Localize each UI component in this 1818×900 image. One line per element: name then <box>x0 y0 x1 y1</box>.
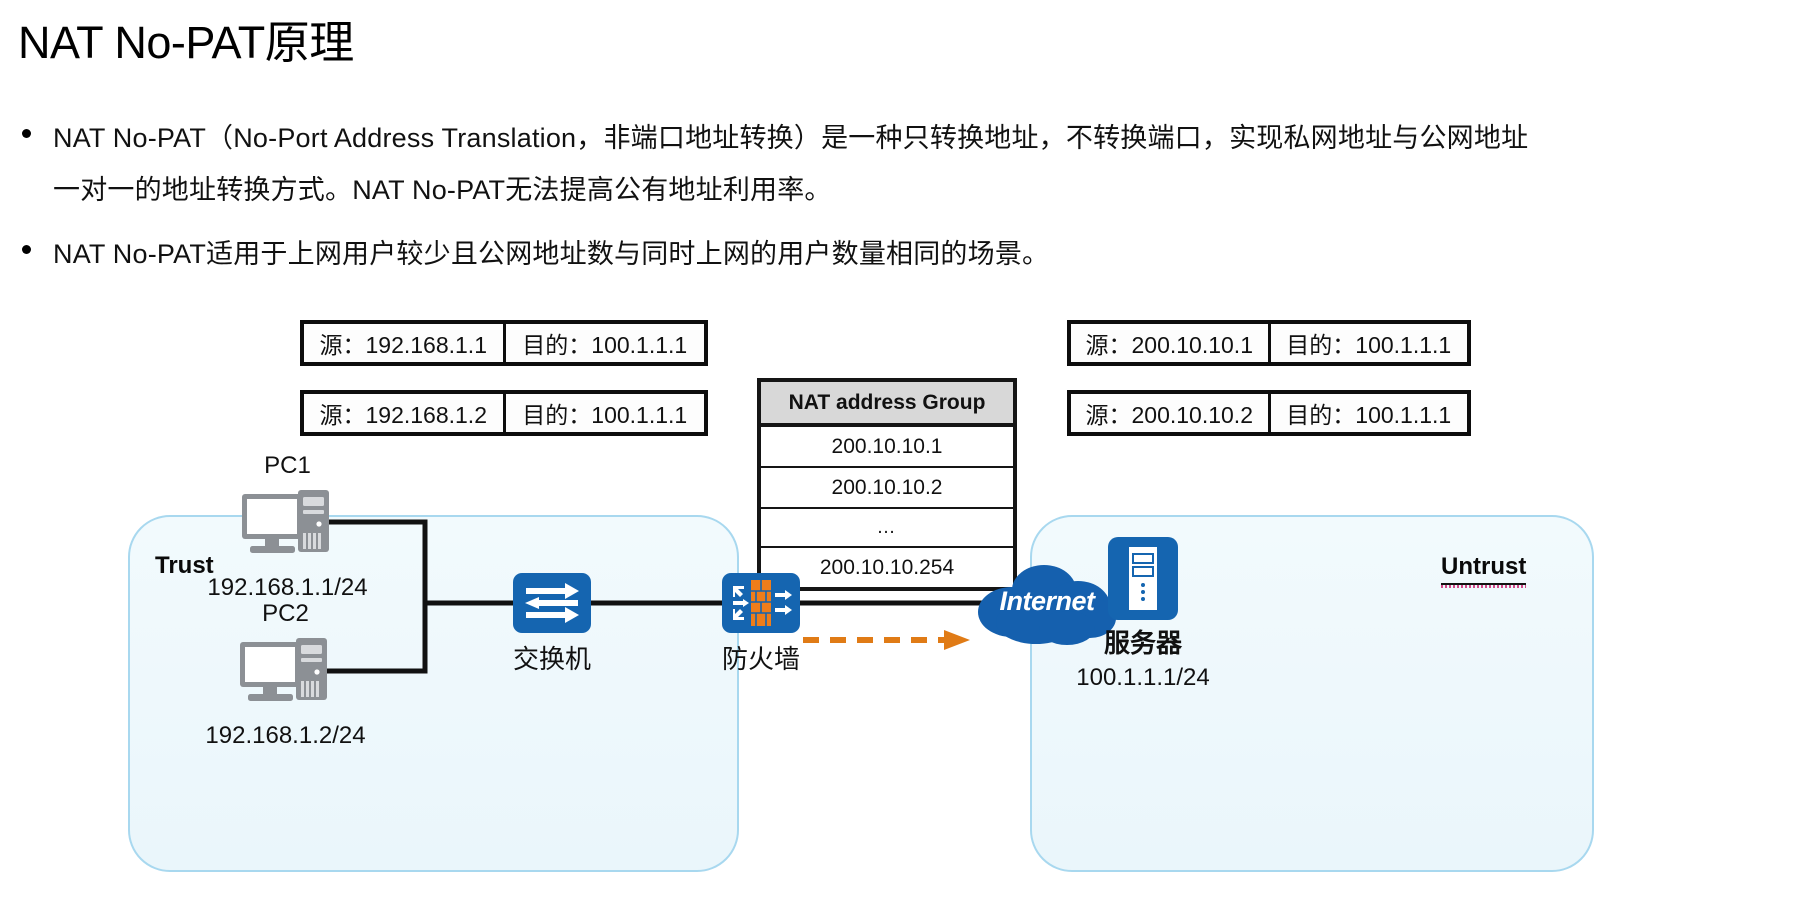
bullet-item-1: NAT No-PAT（No-Port Address Translation，非… <box>22 112 1553 216</box>
packet-box-public-1: 源：200.10.10.1 目的：100.1.1.1 <box>1067 320 1471 366</box>
bullet-dot-icon <box>22 245 31 254</box>
bullet-text-1: NAT No-PAT（No-Port Address Translation，非… <box>53 112 1553 216</box>
nat-table-row: 200.10.10.1 <box>761 427 1013 468</box>
desktop-computer-icon <box>240 488 335 560</box>
device-pc1[interactable]: PC1 192.168.1.1/24 <box>240 488 335 560</box>
pc2-label: PC2 <box>238 600 333 628</box>
pc2-ip-label: 192.168.1.2/24 <box>176 722 396 750</box>
pc1-label: PC1 <box>240 452 335 480</box>
packet-source: 源：192.168.1.1 <box>304 324 506 362</box>
nat-table-row: 200.10.10.2 <box>761 468 1013 509</box>
device-switch[interactable]: 交换机 <box>513 573 591 633</box>
server-caption: 服务器 <box>1083 623 1203 660</box>
nat-table-header: NAT address Group <box>761 382 1013 427</box>
server-ip-label: 100.1.1.1/24 <box>1053 664 1233 692</box>
bullet-text-2: NAT No-PAT适用于上网用户较少且公网地址数与同时上网的用户数量相同的场景… <box>53 228 1049 280</box>
packet-destination: 目的：100.1.1.1 <box>1271 394 1468 432</box>
firewall-icon <box>722 573 800 633</box>
packet-destination: 目的：100.1.1.1 <box>1271 324 1468 362</box>
firewall-caption: 防火墙 <box>722 639 800 676</box>
device-pc2[interactable]: PC2 192.168.1.2/24 <box>238 636 333 708</box>
translation-direction-arrow <box>803 630 970 650</box>
bullet-dot-icon <box>22 129 31 138</box>
packet-source: 源：200.10.10.1 <box>1071 324 1271 362</box>
pc1-ip-label: 192.168.1.1/24 <box>178 574 398 602</box>
desktop-computer-icon <box>238 636 333 708</box>
packet-destination: 目的：100.1.1.1 <box>506 324 705 362</box>
nat-table-row-ellipsis: … <box>761 509 1013 548</box>
bullet-item-2: NAT No-PAT适用于上网用户较少且公网地址数与同时上网的用户数量相同的场景… <box>22 228 1049 280</box>
packet-source: 源：192.168.1.2 <box>304 394 506 432</box>
switch-caption: 交换机 <box>513 639 591 676</box>
packet-box-public-2: 源：200.10.10.2 目的：100.1.1.1 <box>1067 390 1471 436</box>
device-firewall[interactable]: 防火墙 <box>722 573 800 633</box>
page-title: NAT No-PAT原理 <box>18 6 354 71</box>
internet-label: Internet <box>972 586 1122 617</box>
packet-destination: 目的：100.1.1.1 <box>506 394 705 432</box>
switch-icon <box>513 573 591 633</box>
packet-box-private-2: 源：192.168.1.2 目的：100.1.1.1 <box>300 390 708 436</box>
security-zone-trust <box>128 515 739 872</box>
packet-box-private-1: 源：192.168.1.1 目的：100.1.1.1 <box>300 320 708 366</box>
zone-label-untrust: Untrust <box>1441 553 1526 585</box>
packet-source: 源：200.10.10.2 <box>1071 394 1271 432</box>
